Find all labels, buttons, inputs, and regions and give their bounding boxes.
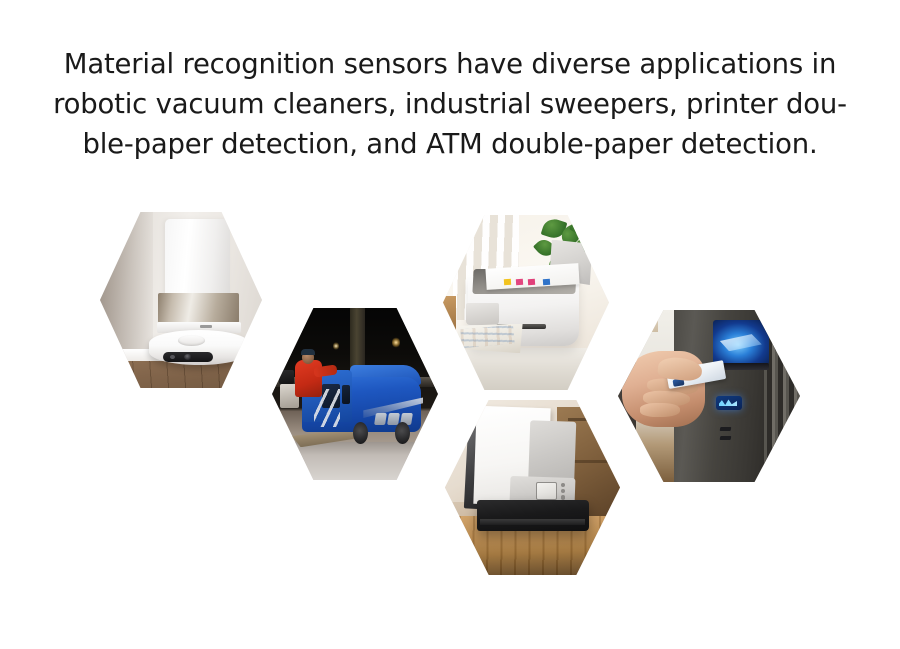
sweeper-wheel — [395, 422, 410, 444]
sheetfeed-printer-photo — [445, 400, 620, 575]
desk-surface — [443, 348, 609, 390]
robot-lidar-turret — [178, 335, 206, 346]
hex-tile-inkjet-printer — [443, 215, 609, 390]
floor-plank-lines — [100, 361, 262, 388]
hand-finger — [640, 403, 680, 417]
dock-station-body — [165, 219, 230, 296]
printer-black-base — [477, 500, 589, 532]
hex-tile-robot-vacuum — [100, 212, 262, 388]
dock-dustbag-window — [158, 293, 239, 323]
sweeper-equipment-box — [279, 370, 294, 384]
inkjet-printer-photo — [443, 215, 609, 390]
robot-secondary-sensor — [170, 355, 175, 359]
snowy-ground — [272, 442, 438, 480]
ink-color-swatch-cyan — [542, 279, 549, 286]
cabinet-shelf-line — [568, 418, 614, 422]
atm-label-icon — [720, 436, 732, 440]
ink-color-swatch-yellow — [504, 279, 511, 286]
ink-color-swatch-magenta — [527, 279, 534, 286]
side-furniture — [443, 296, 456, 335]
printer-lcd-screen — [536, 482, 557, 500]
robot-vacuum-photo — [100, 212, 262, 388]
printer-base-lip — [480, 519, 585, 525]
robot-camera-lens — [184, 354, 192, 360]
industrial-sweeper-photo — [272, 308, 438, 480]
sweeper-vent — [374, 413, 387, 425]
printer-panel-button — [561, 495, 566, 499]
sweeper-wheel — [353, 422, 368, 444]
worker-hat — [301, 349, 315, 355]
background-desk-paper — [618, 310, 658, 332]
printer-input-tray — [466, 303, 499, 326]
sweeper-cab-window — [342, 385, 350, 404]
ink-color-swatch-magenta — [516, 279, 523, 286]
atm-label-icon — [720, 427, 732, 431]
wall-shadow — [100, 212, 153, 360]
atm-card-photo — [618, 310, 800, 482]
hexagon-image-collage — [0, 0, 900, 649]
hex-tile-industrial-sweeper — [272, 308, 438, 480]
atm-machine-ribbed-edge — [764, 310, 800, 482]
street-lamp-glow — [392, 337, 400, 347]
worker-red-jacket — [295, 360, 322, 398]
hex-tile-atm-card — [618, 310, 800, 482]
hex-tile-sheetfeed-printer — [445, 400, 620, 575]
dock-contact-notch — [200, 325, 211, 329]
